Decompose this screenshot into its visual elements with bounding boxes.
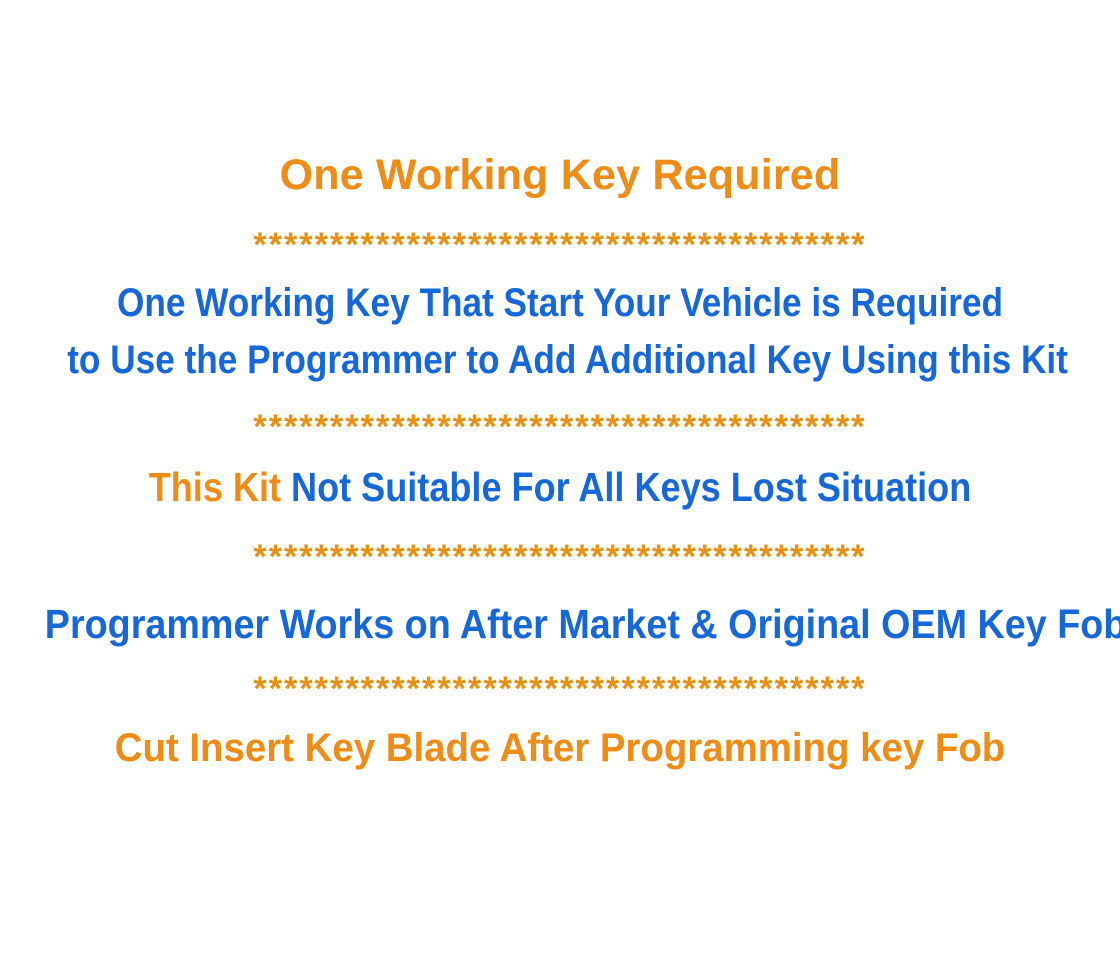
requirement-line-2: to Use the Programmer to Add Additional …: [67, 340, 1053, 380]
limitation-emphasis: This Kit: [149, 464, 281, 510]
separator-row-2: ****************************************: [0, 410, 1120, 444]
limitation-line: This Kit Not Suitable For All Keys Lost …: [67, 467, 1053, 508]
limitation-rest: Not Suitable For All Keys Lost Situation: [281, 464, 971, 510]
separator-row-3: ****************************************: [0, 540, 1120, 574]
page-title: One Working Key Required: [0, 154, 1120, 197]
separator-row-1: ****************************************: [0, 228, 1120, 262]
separator-row-4: ****************************************: [0, 672, 1120, 706]
notice-board: One Working Key Required ***************…: [0, 0, 1120, 956]
instruction-line: Cut Insert Key Blade After Programming k…: [22, 728, 1097, 768]
compatibility-line: Programmer Works on After Market & Origi…: [45, 604, 1075, 645]
requirement-line-1: One Working Key That Start Your Vehicle …: [67, 283, 1053, 323]
